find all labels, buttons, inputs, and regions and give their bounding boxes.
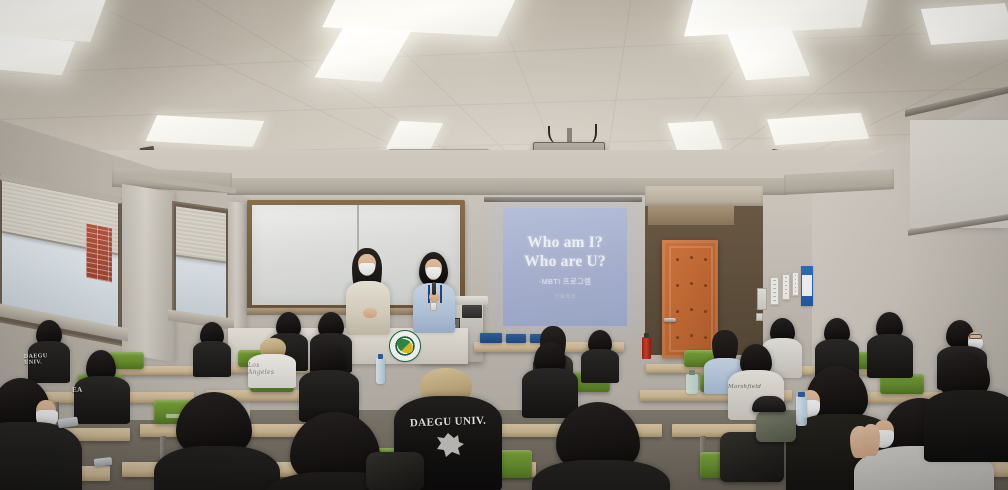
presenter-hands	[363, 308, 377, 318]
emblem-crest	[397, 339, 413, 352]
door-transom	[648, 203, 734, 225]
upper-cabinet	[645, 186, 763, 206]
door-stud	[690, 334, 693, 337]
slide-heading-line1: Who am I?	[527, 234, 603, 252]
bottle-cap	[378, 354, 383, 359]
jacket-mascot-graphic	[428, 430, 472, 460]
slide-subtitle: -MBTI 프로그램	[539, 276, 591, 287]
led-panel	[667, 121, 722, 151]
wall-notice-paper	[782, 274, 790, 300]
student-torso	[522, 368, 578, 418]
student-torso	[532, 460, 670, 490]
led-panel	[145, 115, 264, 147]
clapping-hands	[862, 424, 880, 456]
door-stud	[704, 258, 707, 261]
door-stud	[704, 336, 707, 339]
lanyard-strap	[440, 285, 442, 303]
notice-text-lines	[785, 277, 787, 297]
wall-switch-plate[interactable]	[756, 313, 763, 321]
door-stud	[690, 282, 693, 285]
student-torso	[924, 390, 1008, 462]
storage-bin	[506, 334, 526, 343]
wall-control-panel[interactable]	[757, 288, 767, 310]
tote-bag	[756, 410, 796, 442]
storage-bin	[480, 333, 502, 343]
door-stud	[676, 258, 679, 261]
student-torso	[193, 341, 231, 377]
eyeglasses	[969, 334, 982, 339]
university-emblem	[389, 330, 421, 362]
notice-text-lines	[773, 280, 776, 302]
drink-cup	[686, 374, 698, 394]
wall-notice-paper	[770, 277, 779, 305]
student-torso	[581, 349, 619, 383]
projected-slide: Who am I? Who are U? -MBTI 프로그램 간호학과	[503, 208, 627, 326]
extinguisher-nozzle	[644, 333, 649, 338]
notice-text-lines	[795, 275, 796, 293]
wall-notice-blue	[801, 266, 813, 306]
door-stud	[676, 336, 679, 339]
lectern-monitor	[462, 305, 482, 318]
student-torso	[0, 422, 82, 490]
cup-lid	[689, 370, 696, 375]
door-stud	[690, 256, 693, 259]
backpack	[366, 452, 424, 490]
wall-notice-paper	[792, 272, 799, 296]
water-bottle	[376, 358, 385, 384]
student-torso	[154, 446, 280, 490]
door-handle[interactable]	[664, 318, 676, 322]
door-stud	[704, 284, 707, 287]
projection-screen-rail	[484, 197, 642, 202]
bottle-cap	[798, 392, 804, 397]
slide-heading-line2: Who are U?	[524, 253, 606, 271]
pull-down-projection-screen	[910, 120, 1008, 228]
door-stud	[690, 308, 693, 311]
lecture-hall-photo: Who am I? Who are U? -MBTI 프로그램 간호학과	[0, 0, 1008, 490]
student-torso	[74, 376, 130, 424]
door-stud	[704, 310, 707, 313]
water-bottle	[796, 396, 807, 426]
led-panel	[0, 35, 75, 76]
id-badge	[430, 302, 437, 311]
cap-on-desk	[752, 396, 786, 412]
microphone	[432, 282, 436, 295]
student-torso	[867, 334, 913, 378]
led-panel	[921, 3, 1008, 45]
door-stud	[676, 284, 679, 287]
slide-footnote: 간호학과	[554, 292, 575, 300]
padded-orange-door[interactable]	[662, 240, 718, 358]
exterior-brick-wall	[86, 223, 112, 282]
door-stud	[676, 310, 679, 313]
fire-extinguisher	[642, 337, 651, 359]
notice-blue-body	[802, 275, 812, 296]
